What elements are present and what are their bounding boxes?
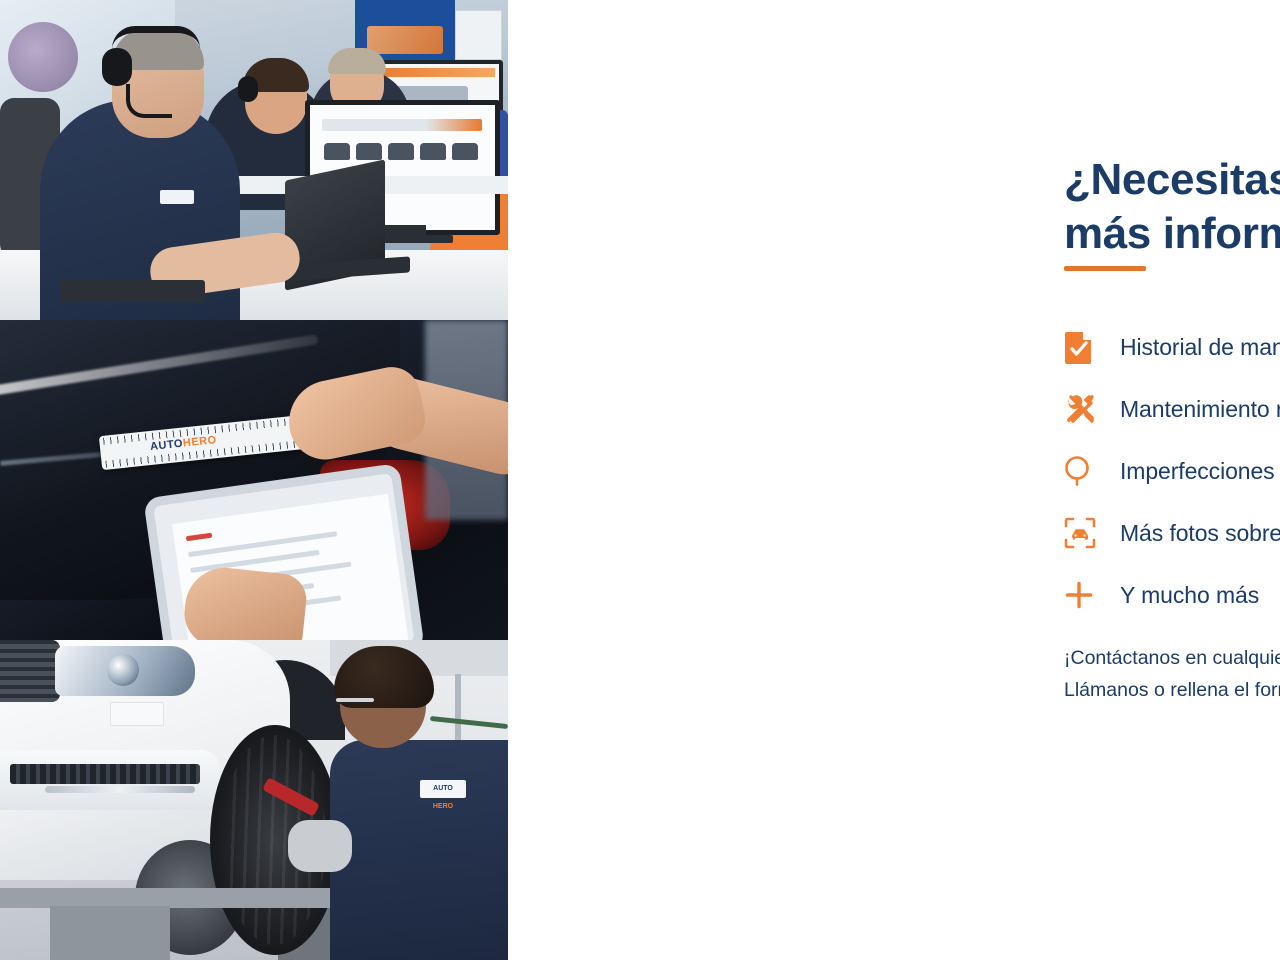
agent-one-badge xyxy=(160,190,194,204)
background-foliage xyxy=(8,22,78,92)
bumper-vent xyxy=(10,764,200,784)
chrome-trim xyxy=(45,786,195,793)
car-listing-thumb xyxy=(452,143,478,160)
feature-item-imperfecciones[interactable]: Imperfecciones xyxy=(1064,440,1280,502)
feature-label: Y mucho más xyxy=(1120,582,1259,609)
feature-item-fotos[interactable]: Más fotos sobre el coche xyxy=(1064,502,1280,564)
feature-label: Más fotos sobre el coche xyxy=(1120,520,1280,547)
call-center-agents-photo xyxy=(0,0,508,320)
mechanic-body xyxy=(330,740,508,960)
vehicle-lift-post xyxy=(50,906,170,960)
feature-item-mantenimiento[interactable]: Mantenimiento realizado xyxy=(1064,378,1280,440)
car-grille xyxy=(0,640,60,702)
promo-page: AUTOHERO xyxy=(0,0,1280,960)
agent-one-microphone xyxy=(126,84,172,118)
wall-notice xyxy=(455,10,502,60)
contact-line-2: Llámanos o rellena el formulario de cont… xyxy=(1064,675,1280,707)
mechanic-glasses xyxy=(336,698,374,702)
autohero-logo-hero: HERO xyxy=(182,434,217,449)
tablet-accent-row xyxy=(186,533,212,542)
feature-label: Imperfecciones xyxy=(1120,458,1275,485)
vehicle-inspection-photo: AUTOHERO xyxy=(0,320,508,640)
document-check-icon xyxy=(1064,330,1120,364)
mechanic-uniform-badge: AUTOHERO xyxy=(420,780,466,798)
contact-copy: ¡Contáctanos en cualquier momento para m… xyxy=(1064,643,1280,706)
mechanic-glove xyxy=(288,820,352,872)
plus-icon xyxy=(1064,580,1120,610)
tools-wrench-screwdriver-icon xyxy=(1064,393,1120,425)
feature-item-mucho-mas[interactable]: Y mucho más xyxy=(1064,564,1280,626)
agent-three-hair xyxy=(328,48,386,74)
car-listing-thumb xyxy=(388,143,414,160)
car-headlight xyxy=(55,646,195,696)
feature-item-historial[interactable]: Historial de mantenimientos xyxy=(1064,316,1280,378)
contact-line-1: ¡Contáctanos en cualquier momento para m… xyxy=(1064,643,1280,675)
agent-two-headset xyxy=(238,76,258,102)
desk-mat xyxy=(60,280,205,302)
agent-one-headband xyxy=(112,26,200,49)
feature-list: Historial de mantenimientos xyxy=(1064,316,1280,626)
title-underline-rule xyxy=(1064,266,1146,271)
tablet-holding-hand xyxy=(181,564,309,640)
agent-one-headset xyxy=(102,48,132,86)
car-listing-thumb xyxy=(420,143,446,160)
uniform-badge-text: AUTOHERO xyxy=(420,780,466,816)
car-viewfinder-icon xyxy=(1064,517,1120,549)
feature-label: Mantenimiento realizado xyxy=(1120,396,1280,423)
car-listing-thumb xyxy=(356,143,382,160)
content-panel: ¿Necesitas más información? Estamos enca… xyxy=(508,0,1280,960)
page-title: ¿Necesitas más información? xyxy=(1064,153,1280,260)
license-plate-blank xyxy=(110,702,164,726)
photo-column: AUTOHERO xyxy=(0,0,508,960)
page-title-line-1: ¿Necesitas xyxy=(1064,153,1280,207)
car-listing-thumb xyxy=(324,143,350,160)
page-title-line-2: más información? xyxy=(1064,207,1280,261)
feature-label: Historial de mantenimientos xyxy=(1120,334,1280,361)
magnifier-icon xyxy=(1064,455,1120,487)
workshop-tire-photo: AUTOHERO xyxy=(0,640,508,960)
monitor-browser-bar xyxy=(322,119,482,131)
vehicle-lift-arm xyxy=(0,888,330,908)
autohero-logo-auto: AUTO xyxy=(150,438,184,453)
